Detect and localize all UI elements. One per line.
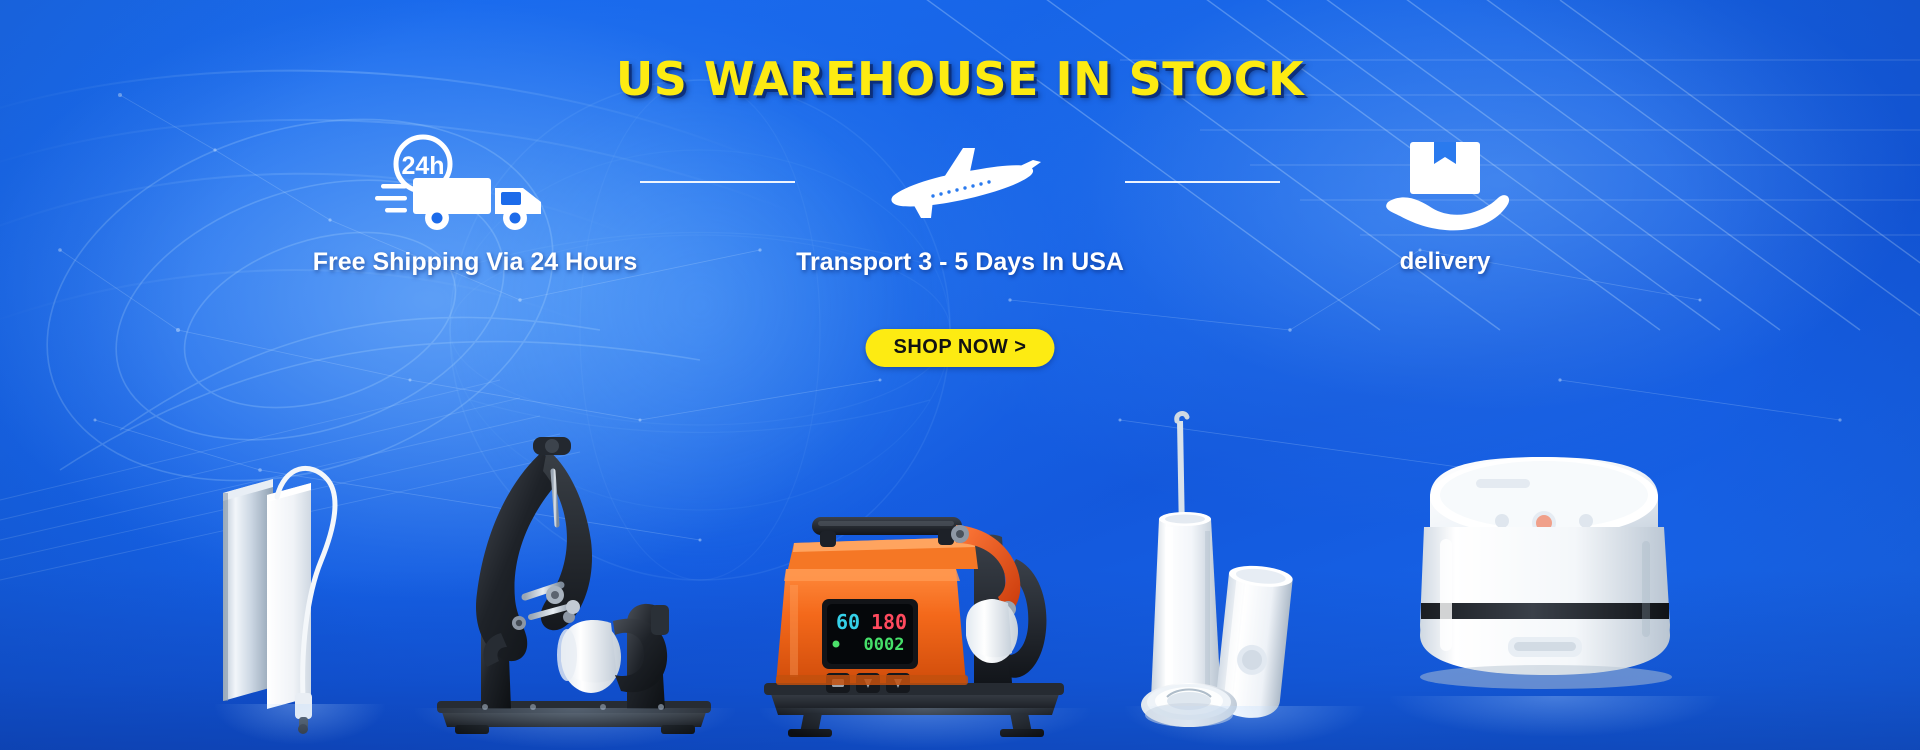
product-orange-mug-press[interactable]: 60 180 0002 [760,439,1090,744]
delivery-truck-24h-icon: 24h [375,130,575,234]
connector-line [640,181,795,183]
feature-connector-1 [640,130,795,234]
truck-badge-label: 24h [401,152,444,180]
feature-delivery: delivery [1280,130,1610,276]
product-heat-press-plate[interactable] [215,435,385,740]
product-white-tumblers[interactable] [1125,407,1365,742]
feature-strip: 24h Free Shipping Via 24 [0,130,1920,277]
feature-transport: Transport 3 - 5 Days In USA [795,130,1125,277]
control-panel-display: 60 180 0002 [822,599,918,669]
timer-readout: 0002 [864,635,905,655]
connector-line [1125,181,1280,183]
target-temperature-readout: 180 [871,610,907,634]
feature-label-delivery: delivery [1400,248,1491,276]
feature-free-shipping: 24h Free Shipping Via 24 [310,130,640,277]
hand-holding-box-icon [1370,130,1520,234]
product-black-mug-press[interactable] [415,409,735,744]
promo-banner: US WAREHOUSE IN STOCK 24h [0,0,1920,750]
airplane-icon [875,130,1045,234]
feature-label-free-shipping: Free Shipping Via 24 Hours [313,248,638,277]
page-title: US WAREHOUSE IN STOCK [0,52,1920,106]
feature-connector-2 [1125,130,1280,234]
feature-label-transport: Transport 3 - 5 Days In USA [796,248,1124,277]
product-white-appliance[interactable] [1390,427,1720,732]
product-showcase: 60 180 0002 [0,350,1920,750]
temperature-readout: 60 [836,610,860,634]
